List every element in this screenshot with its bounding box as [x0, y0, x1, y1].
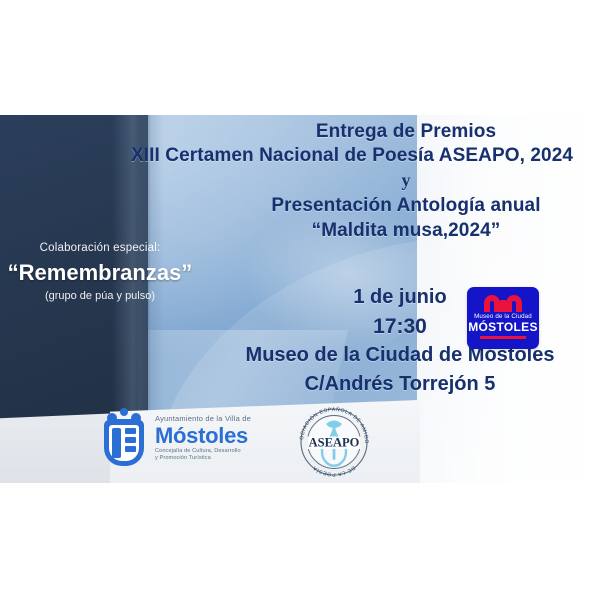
ayuntamiento-dept-1: Concejalía de Cultura, Desarrollo — [155, 448, 251, 455]
headline-line-1: Entrega de Premios — [200, 120, 600, 143]
headline-contest: Certamen Nacional de Poesía ASEAPO, 2024 — [165, 145, 573, 166]
headline-edition: XIII — [131, 145, 160, 166]
event-date: 1 de junio — [200, 283, 600, 312]
aseapo-seal-logo: ASEAPO ASOCIACIÓN ESPAÑOLA DE AMIGOS DE … — [292, 400, 376, 483]
museo-m-mark-icon — [481, 292, 525, 312]
museo-accent-bar — [480, 336, 526, 339]
event-info-block: 1 de junio 17:30 Museo de la Ciudad de M… — [200, 283, 600, 399]
aseapo-seal-icon: ASEAPO ASOCIACIÓN ESPAÑOLA DE AMIGOS DE … — [292, 400, 376, 483]
collaboration-group-name: “Remembranzas” — [0, 258, 200, 288]
headline-line-4: “Maldita musa,2024” — [200, 218, 600, 244]
event-venue: Museo de la Ciudad de Móstoles — [200, 341, 600, 370]
headline-block: Entrega de Premios XIII Certamen Naciona… — [92, 120, 600, 244]
aseapo-center-text: ASEAPO — [309, 436, 360, 450]
collaboration-group-type: (grupo de púa y pulso) — [0, 288, 200, 304]
event-time: 17:30 — [200, 312, 600, 341]
ayuntamiento-dept-2: y Promoción Turística — [155, 455, 251, 462]
poster-image: Entrega de Premios XIII Certamen Naciona… — [0, 0, 600, 600]
headline-line-3: Presentación Antología anual — [200, 193, 600, 218]
ayuntamiento-name: Móstoles — [155, 424, 251, 448]
event-address: C/Andrés Torrejón 5 — [200, 370, 600, 399]
shield-bar-right-1 — [125, 428, 136, 434]
museo-ciudad-logo: Museo de la Ciudad MÓSTOLES — [467, 287, 539, 349]
collaboration-block: Colaboración especial: “Remembranzas” (g… — [0, 240, 200, 304]
headline-conjunction: y — [200, 168, 600, 193]
ayuntamiento-logo: Ayuntamiento de la Villa de Móstoles Con… — [100, 405, 268, 471]
shield-bar-right-2 — [125, 437, 136, 443]
shield-bar-right-3 — [125, 446, 136, 452]
shield-bar-left — [112, 428, 121, 458]
museo-line-2: MÓSTOLES — [468, 321, 538, 334]
mostoles-coat-of-arms-icon — [100, 408, 148, 468]
collaboration-label: Colaboración especial: — [0, 240, 200, 256]
headline-line-2: XIII Certamen Nacional de Poesía ASEAPO,… — [92, 143, 600, 168]
ayuntamiento-text: Ayuntamiento de la Villa de Móstoles Con… — [155, 414, 251, 462]
